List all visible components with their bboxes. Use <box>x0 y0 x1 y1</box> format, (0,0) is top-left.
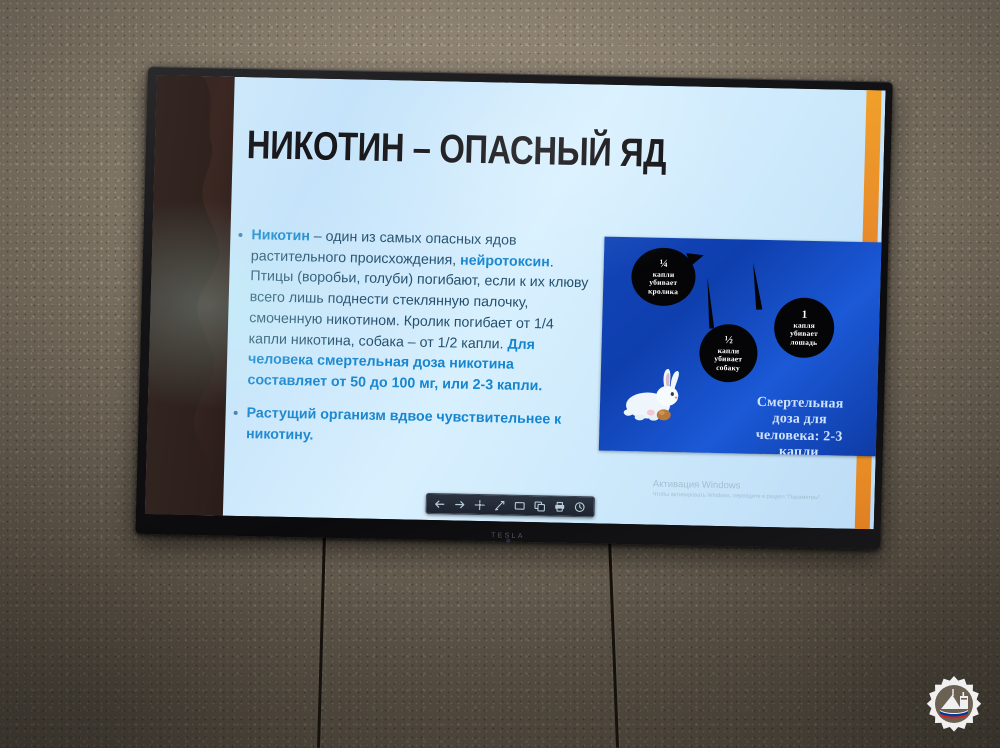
slide-view-icon[interactable] <box>513 499 526 512</box>
bubble-rabbit: ¼ капли убивает кролика <box>631 247 697 306</box>
tv-bezel: НИКОТИН – ОПАСНЫЙ ЯД Никотин – один из с… <box>135 66 893 549</box>
slide-title: НИКОТИН – ОПАСНЫЙ ЯД <box>246 123 667 177</box>
bubble-tail-dog <box>704 277 714 329</box>
tv-power-led <box>506 539 510 543</box>
bullet-2-seg-0: Растущий организм вдвое чувствительнее к… <box>246 405 562 443</box>
windows-activation-watermark: Активация Windows Чтобы активировать Win… <box>652 479 842 503</box>
bubble-tail-horse <box>753 262 762 310</box>
bubble-rabbit-line-3: кролика <box>648 287 678 296</box>
arrow-right-icon[interactable] <box>453 497 466 510</box>
bubble-dog-fraction: ½ <box>725 334 734 346</box>
bullet-dot-icon <box>234 411 238 415</box>
figure-caption: Смертельная доза для человека: 2-3 капли <box>715 394 885 457</box>
rabbit-illustration-icon <box>617 365 691 428</box>
bubble-dog: ½ капли убивает собаку <box>699 324 759 383</box>
presentation-toolbar[interactable] <box>425 493 595 518</box>
zoom-slide-icon[interactable] <box>533 499 546 512</box>
arrow-left-icon[interactable] <box>433 497 446 510</box>
gear-ship-emblem <box>922 674 986 738</box>
bubble-horse-fraction: 1 <box>802 308 808 320</box>
slide-body: Никотин – один из самых опасных ядов рас… <box>232 225 590 464</box>
tv-screen[interactable]: НИКОТИН – ОПАСНЫЙ ЯД Никотин – один из с… <box>145 75 886 529</box>
bubble-horse-line-3: лошадь <box>790 338 817 347</box>
more-options-icon[interactable] <box>573 500 586 513</box>
bullet-item: Никотин – один из самых опасных ядов рас… <box>234 225 590 398</box>
presentation-slide[interactable]: НИКОТИН – ОПАСНЫЙ ЯД Никотин – один из с… <box>145 75 886 529</box>
figure-caption-line-4: капли <box>715 443 883 457</box>
decorative-wave-band <box>145 75 235 515</box>
bullet-1-seg-2: нейротоксин <box>460 252 550 270</box>
bubble-rabbit-fraction: ¼ <box>660 258 669 270</box>
bullet-text-1: Никотин – один из самых опасных ядов рас… <box>247 225 590 398</box>
laser-pointer-icon[interactable] <box>493 498 506 511</box>
bullet-1-seg-0: Никотин <box>251 227 310 244</box>
bullet-text-2: Растущий организм вдвое чувствительнее к… <box>246 403 586 452</box>
lethal-dose-figure: ¼ капли убивает кролика ½ капли убивает … <box>599 237 886 457</box>
bullet-item: Растущий организм вдвое чувствительнее к… <box>233 403 586 452</box>
bubble-dog-line-3: собаку <box>716 364 740 373</box>
pen-cursor-icon[interactable] <box>473 498 486 511</box>
bullet-dot-icon <box>238 233 242 237</box>
wall-mounted-tv: НИКОТИН – ОПАСНЫЙ ЯД Никотин – один из с… <box>135 66 893 549</box>
printer-icon[interactable] <box>553 500 566 513</box>
bubble-horse: 1 капля убивает лошадь <box>773 297 835 358</box>
